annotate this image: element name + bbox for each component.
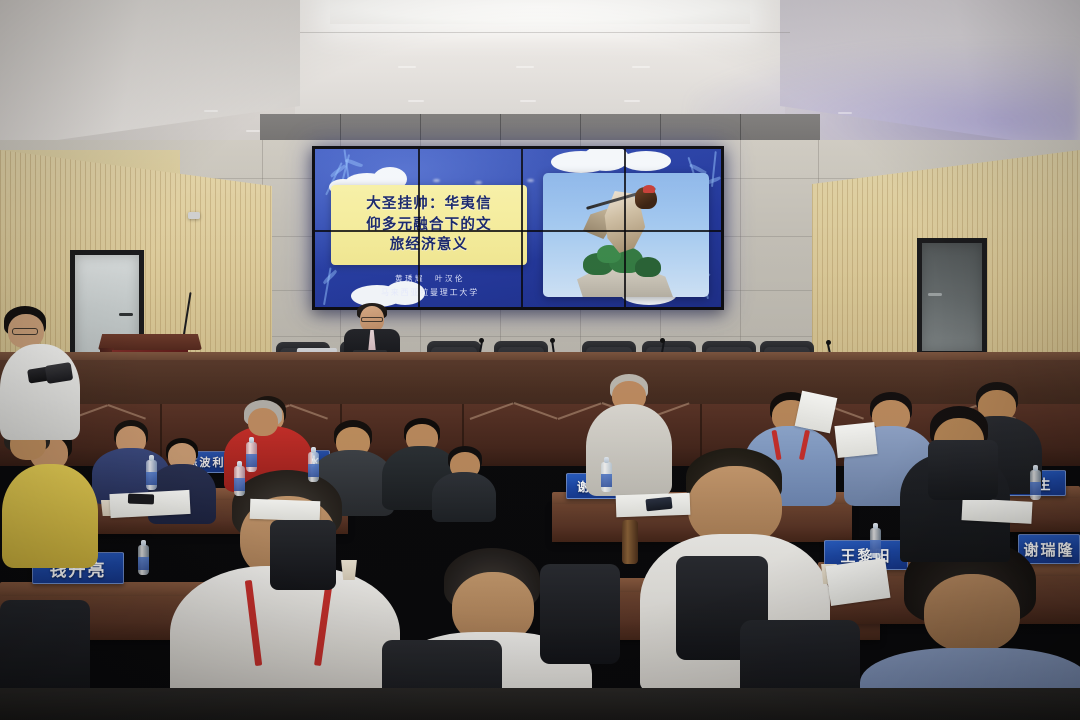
water-bottle xyxy=(138,545,149,575)
ceiling-light-strip xyxy=(408,100,424,102)
water-bottle xyxy=(1030,470,1041,500)
conference-hall-photo: 大圣挂帅：华夷信 仰多元融合下的文 旅经济意义 黄琇耀 叶汉伦 马来西亚拉曼理工… xyxy=(0,0,1080,720)
audience-chair-back xyxy=(928,440,998,500)
ceiling-light-strip xyxy=(632,66,650,68)
glasses-icon xyxy=(12,328,38,335)
ceiling-light-strip xyxy=(516,66,534,68)
audience-member xyxy=(432,446,496,518)
right-door[interactable] xyxy=(917,238,987,356)
slide-photo-monkey-king xyxy=(543,173,709,297)
audience-chair-back xyxy=(270,520,336,590)
document-page xyxy=(826,558,891,606)
document-page xyxy=(834,422,877,458)
document-page xyxy=(795,391,838,434)
document-page xyxy=(961,498,1032,524)
slide-affiliation: 马来西亚拉曼理工大学 xyxy=(345,287,515,298)
ceiling-light-strip xyxy=(204,110,218,112)
ceiling-light-strip xyxy=(624,100,640,102)
document-page xyxy=(250,499,321,521)
water-bottle xyxy=(146,460,157,490)
ceiling-light-strip xyxy=(520,100,536,102)
wall-light-fixture xyxy=(188,212,200,219)
ceiling-light-strip xyxy=(838,112,852,114)
audience-chair-back xyxy=(540,564,620,664)
water-bottle xyxy=(308,452,319,482)
skylight xyxy=(330,0,750,24)
slide-title-card: 大圣挂帅：华夷信 仰多元融合下的文 旅经济意义 xyxy=(331,185,527,265)
slide-byline: 黄琇耀 叶汉伦 马来西亚拉曼理工大学 xyxy=(345,273,515,298)
water-bottle xyxy=(246,442,257,472)
glasses-icon xyxy=(361,317,383,322)
presentation-slide: 大圣挂帅：华夷信 仰多元融合下的文 旅经济意义 黄琇耀 叶汉伦 马来西亚拉曼理工… xyxy=(315,149,721,307)
led-video-wall: 大圣挂帅：华夷信 仰多元融合下的文 旅经济意义 黄琇耀 叶汉伦 马来西亚拉曼理工… xyxy=(312,146,724,310)
water-bottle xyxy=(234,466,245,496)
smartphone xyxy=(128,494,154,505)
slide-title: 大圣挂帅：华夷信 仰多元融合下的文 旅经济意义 xyxy=(366,194,492,256)
ceiling-light-strip xyxy=(398,66,416,68)
ceiling-light-strip xyxy=(246,130,260,132)
audience-member xyxy=(236,400,296,470)
water-bottle xyxy=(870,528,881,558)
floor xyxy=(0,688,1080,720)
water-bottle xyxy=(601,462,612,492)
thermos-flask xyxy=(622,520,638,564)
slide-authors: 黄琇耀 叶汉伦 xyxy=(345,273,515,284)
photographer-torso xyxy=(0,344,80,440)
cloud-decoration xyxy=(621,151,671,171)
